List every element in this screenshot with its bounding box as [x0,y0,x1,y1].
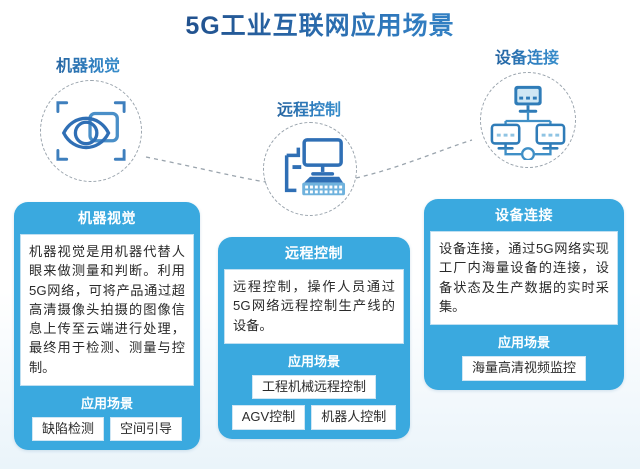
tag[interactable]: 海量高清视频监控 [462,356,586,381]
connector-remote-to-device [356,140,472,178]
card-device-connection[interactable]: 设备连接 设备连接，通过5G网络实现工厂内海量设备的连接，设备状态及生产数据的实… [424,199,624,390]
tag[interactable]: 空间引导 [110,417,182,442]
scene-title-device-connection: 应用场景 [424,325,624,356]
card-title-device-connection: 设备连接 [424,199,624,231]
node-remote-control: 远程控制 [245,96,373,236]
infographic-canvas: 5G工业互联网应用场景 机器视觉 [0,0,640,469]
tag-row-remote-control: 工程机械远程控制 AGV控制 机器人控制 [218,375,410,439]
monitor-server-icon [273,134,347,206]
tag-row-device-connection: 海量高清视频监控 [424,356,624,390]
network-monitors-icon [488,82,568,160]
card-body-device-connection: 设备连接，通过5G网络实现工厂内海量设备的连接，设备状态及生产数据的实时采集。 [430,231,618,325]
tag[interactable]: 缺陷检测 [32,417,104,442]
card-machine-vision[interactable]: 机器视觉 机器视觉是用机器代替人眼来做测量和判断。利用5G网络，可将产品通过超高… [14,202,200,450]
card-body-machine-vision: 机器视觉是用机器代替人眼来做测量和判断。利用5G网络，可将产品通过超高清摄像头拍… [20,234,194,386]
node-label-remote-control: 远程控制 [245,96,373,120]
tag-row-machine-vision: 缺陷检测 空间引导 [14,417,200,451]
node-device-connection: 设备连接 [462,44,592,192]
card-body-remote-control: 远程控制，操作人员通过5G网络远程控制生产线的设备。 [224,269,404,344]
tag[interactable]: 机器人控制 [311,405,396,430]
eye-camera-icon [52,94,130,168]
node-label-machine-vision: 机器视觉 [18,52,158,76]
scene-title-remote-control: 应用场景 [218,344,410,375]
card-remote-control[interactable]: 远程控制 远程控制，操作人员通过5G网络远程控制生产线的设备。 应用场景 工程机… [218,237,410,439]
scene-title-machine-vision: 应用场景 [14,386,200,417]
node-machine-vision: 机器视觉 [18,52,158,202]
card-title-remote-control: 远程控制 [218,237,410,269]
card-title-machine-vision: 机器视觉 [14,202,200,234]
page-title: 5G工业互联网应用场景 [0,6,640,42]
tag[interactable]: AGV控制 [232,405,305,430]
node-label-device-connection: 设备连接 [462,44,592,68]
tag[interactable]: 工程机械远程控制 [252,375,376,400]
